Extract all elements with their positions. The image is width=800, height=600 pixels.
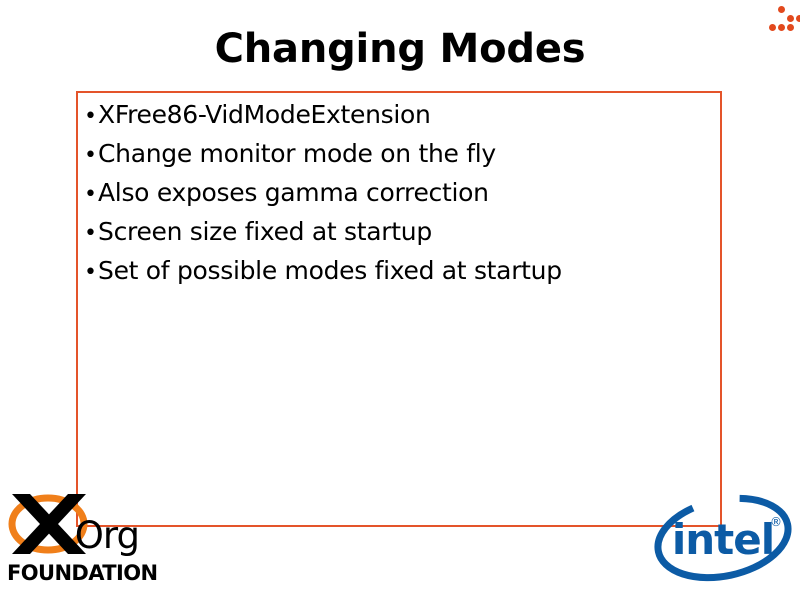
decorative-dot (778, 6, 785, 13)
list-item-label: Change monitor mode on the fly (98, 139, 496, 168)
svg-text:intel: intel (672, 515, 774, 564)
decorative-dot (787, 15, 794, 22)
bullet-list: • XFree86-VidModeExtension • Change moni… (84, 100, 724, 295)
bullet-point-icon: • (84, 145, 98, 167)
decorative-dot (796, 15, 800, 22)
list-item: • Set of possible modes fixed at startup (84, 256, 724, 295)
intel-logo: intel ® (648, 492, 798, 584)
list-item: • XFree86-VidModeExtension (84, 100, 724, 139)
bullet-point-icon: • (84, 262, 98, 284)
xorg-wordmark: .Org (64, 516, 139, 556)
intel-logo-icon: intel ® (648, 492, 798, 584)
bullet-point-icon: • (84, 184, 98, 206)
slide-title: Changing Modes (0, 24, 800, 74)
list-item-label: Also exposes gamma correction (98, 178, 489, 207)
list-item-label: XFree86-VidModeExtension (98, 100, 431, 129)
slide: Changing Modes • XFree86-VidModeExtensio… (0, 0, 800, 600)
list-item: • Change monitor mode on the fly (84, 139, 724, 178)
xorg-foundation-label: FOUNDATION (7, 561, 157, 585)
list-item: • Screen size fixed at startup (84, 217, 724, 256)
svg-text:®: ® (770, 515, 782, 529)
list-item: • Also exposes gamma correction (84, 178, 724, 217)
bullet-point-icon: • (84, 106, 98, 128)
list-item-label: Screen size fixed at startup (98, 217, 432, 246)
list-item-label: Set of possible modes fixed at startup (98, 256, 562, 285)
bullet-point-icon: • (84, 223, 98, 245)
